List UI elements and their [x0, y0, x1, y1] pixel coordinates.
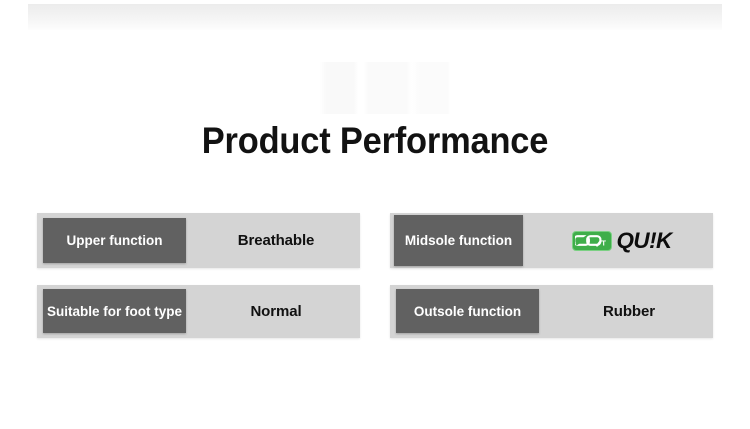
spec-card-upper-function: Upper function Breathable [37, 213, 360, 268]
quik-logo: T QU!K [572, 228, 671, 254]
spec-card-midsole-function: Midsole function T QU!K [390, 213, 713, 268]
spec-label-upper-function: Upper function [43, 218, 186, 263]
spec-value-foot-type: Normal [192, 285, 360, 338]
co2-badge-icon: T [572, 231, 612, 251]
quik-wordmark: QU!K [616, 228, 671, 254]
spec-value-outsole-function: Rubber [545, 285, 713, 338]
svg-text:T: T [601, 238, 606, 247]
spec-row-2: Suitable for foot type Normal Outsole fu… [37, 285, 713, 338]
spec-row-1: Upper function Breathable Midsole functi… [37, 213, 713, 268]
spec-label-outsole-function: Outsole function [396, 289, 539, 333]
spec-card-foot-type: Suitable for foot type Normal [37, 285, 360, 338]
page-title: Product Performance [26, 118, 724, 164]
top-decorative-bar [28, 4, 722, 30]
spec-card-outsole-function: Outsole function Rubber [390, 285, 713, 338]
spec-value-midsole-function: T QU!K [530, 213, 713, 268]
spec-label-foot-type: Suitable for foot type [43, 289, 186, 333]
background-watermark [320, 62, 450, 114]
spec-value-upper-function: Breathable [192, 213, 360, 268]
spec-label-midsole-function: Midsole function [394, 215, 523, 266]
spec-grid: Upper function Breathable Midsole functi… [37, 213, 713, 355]
